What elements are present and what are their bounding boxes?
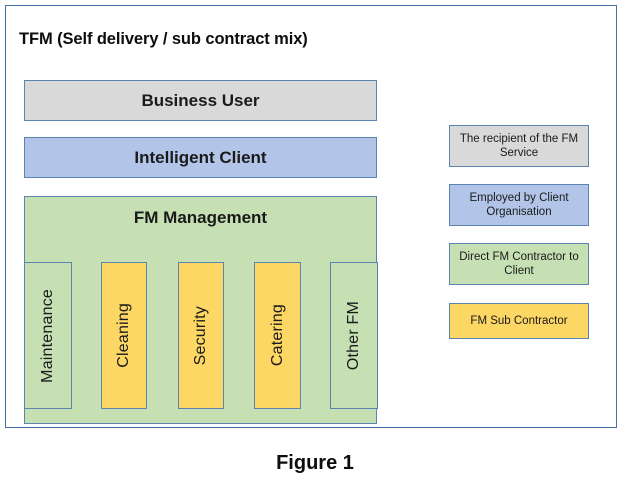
service-label-catering: Catering xyxy=(269,304,287,366)
figure-stage: TFM (Self delivery / sub contract mix) B… xyxy=(0,0,630,487)
legend-item-employed-by-client: Employed by Client Organisation xyxy=(449,184,589,226)
figure-frame: TFM (Self delivery / sub contract mix) B… xyxy=(5,5,617,428)
figure-caption: Figure 1 xyxy=(0,452,630,475)
service-label-cleaning: Cleaning xyxy=(115,303,133,368)
service-column-maintenance[interactable]: Maintenance xyxy=(24,262,72,409)
service-label-other-fm: Other FM xyxy=(345,301,363,370)
fm-management-panel[interactable]: FM Management Maintenance Cleaning Secur… xyxy=(24,196,377,424)
intelligent-client-box[interactable]: Intelligent Client xyxy=(24,137,377,178)
legend-item-fm-sub-contractor: FM Sub Contractor xyxy=(449,303,589,339)
fm-management-label: FM Management xyxy=(25,208,376,228)
service-column-security[interactable]: Security xyxy=(178,262,224,409)
legend-item-recipient: The recipient of the FM Service xyxy=(449,125,589,167)
legend-item-direct-fm-contractor: Direct FM Contractor to Client xyxy=(449,243,589,285)
business-user-box[interactable]: Business User xyxy=(24,80,377,121)
service-column-catering[interactable]: Catering xyxy=(254,262,301,409)
service-label-security: Security xyxy=(192,306,210,365)
diagram-title: TFM (Self delivery / sub contract mix) xyxy=(19,30,308,49)
service-column-other-fm[interactable]: Other FM xyxy=(330,262,378,409)
service-label-maintenance: Maintenance xyxy=(39,289,57,383)
service-column-cleaning[interactable]: Cleaning xyxy=(101,262,147,409)
